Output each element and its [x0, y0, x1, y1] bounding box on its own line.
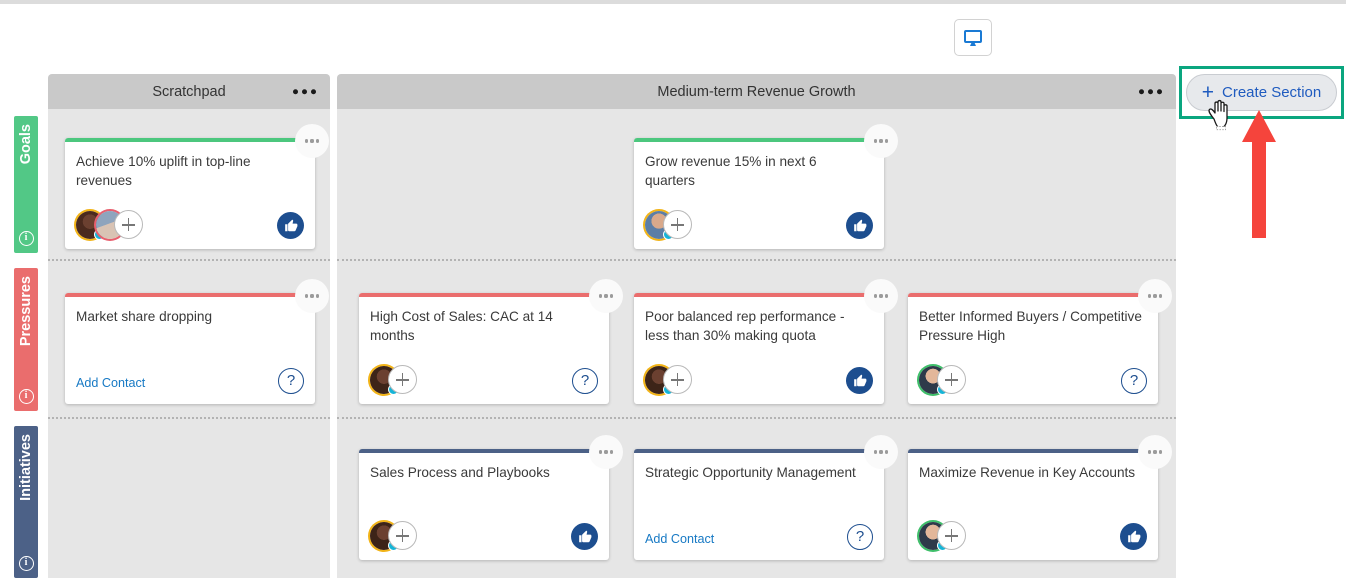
card-accent-bar: [359, 449, 609, 453]
lane-goals: Grow revenue 15% in next 6 quarters: [337, 109, 1176, 261]
avatar-stack[interactable]: [370, 365, 417, 394]
add-person-button[interactable]: [937, 521, 966, 550]
card[interactable]: Grow revenue 15% in next 6 quarters: [634, 138, 884, 249]
section-header[interactable]: Scratchpad: [48, 74, 330, 109]
section-menu-icon[interactable]: [1139, 89, 1163, 95]
card-accent-bar: [65, 293, 315, 297]
add-person-button[interactable]: [114, 210, 143, 239]
swimlane-label-pressures: Pressures: [18, 276, 34, 346]
pointer-hand-icon: [1206, 99, 1236, 133]
add-contact-link[interactable]: Add Contact: [76, 376, 145, 390]
info-icon[interactable]: i: [19, 389, 34, 404]
help-button[interactable]: ?: [278, 368, 304, 394]
card-title: Poor balanced rep performance - less tha…: [645, 307, 870, 345]
card-title: Maximize Revenue in Key Accounts: [919, 463, 1144, 482]
section-body: Grow revenue 15% in next 6 quarters: [337, 109, 1176, 578]
avatar-stack[interactable]: [919, 365, 966, 394]
card[interactable]: Sales Process and Playbooks: [359, 449, 609, 560]
card-title: Better Informed Buyers / Competitive Pre…: [919, 307, 1144, 345]
card-accent-bar: [65, 138, 315, 142]
add-contact-link[interactable]: Add Contact: [645, 532, 714, 546]
card-accent-bar: [908, 449, 1158, 453]
top-divider: [0, 0, 1346, 4]
swimlane-label-initiatives: Initiatives: [18, 434, 34, 501]
annotation-arrow-icon: [1239, 108, 1279, 240]
section-title: Scratchpad: [152, 84, 225, 100]
thumbs-up-button[interactable]: [846, 212, 873, 239]
thumbs-up-button[interactable]: [846, 367, 873, 394]
add-person-button[interactable]: [388, 365, 417, 394]
add-person-button[interactable]: [388, 521, 417, 550]
card-title: Strategic Opportunity Management: [645, 463, 870, 482]
avatar-stack[interactable]: [370, 521, 417, 550]
help-button[interactable]: ?: [572, 368, 598, 394]
monitor-icon: [964, 30, 982, 46]
avatar-stack[interactable]: [645, 365, 692, 394]
card-title: Sales Process and Playbooks: [370, 463, 595, 482]
add-person-button[interactable]: [663, 365, 692, 394]
info-icon[interactable]: i: [19, 231, 34, 246]
thumbs-up-button[interactable]: [277, 212, 304, 239]
lane-initiatives: Sales Process and Playbooks: [337, 419, 1176, 578]
section-scratchpad: Scratchpad Achieve 10% uplift in top-lin…: [48, 74, 330, 578]
card-title: Achieve 10% uplift in top-line revenues: [76, 152, 301, 190]
card[interactable]: Maximize Revenue in Key Accounts: [908, 449, 1158, 560]
add-person-button[interactable]: [937, 365, 966, 394]
board-canvas: Goals i Pressures i Initiatives i Scratc…: [0, 0, 1346, 578]
display-view-button[interactable]: [954, 19, 992, 56]
help-button[interactable]: ?: [1121, 368, 1147, 394]
swimlane-label-goals: Goals: [18, 124, 34, 164]
card-accent-bar: [634, 138, 884, 142]
card[interactable]: Better Informed Buyers / Competitive Pre…: [908, 293, 1158, 404]
help-button[interactable]: ?: [847, 524, 873, 550]
section-title: Medium-term Revenue Growth: [657, 84, 855, 100]
card[interactable]: Strategic Opportunity Management Add Con…: [634, 449, 884, 560]
swimlane-rail-goals[interactable]: Goals i: [14, 116, 38, 253]
card[interactable]: Poor balanced rep performance - less tha…: [634, 293, 884, 404]
thumbs-up-button[interactable]: [1120, 523, 1147, 550]
create-section-label: Create Section: [1222, 84, 1321, 101]
avatar-stack[interactable]: [76, 210, 143, 239]
card[interactable]: High Cost of Sales: CAC at 14 months ?: [359, 293, 609, 404]
thumbs-up-button[interactable]: [571, 523, 598, 550]
card-accent-bar: [634, 293, 884, 297]
card-accent-bar: [634, 449, 884, 453]
section-header[interactable]: Medium-term Revenue Growth: [337, 74, 1176, 109]
lane-initiatives: [48, 419, 330, 578]
avatar-stack[interactable]: [919, 521, 966, 550]
card-title: Market share dropping: [76, 307, 301, 326]
card-accent-bar: [908, 293, 1158, 297]
lane-pressures: High Cost of Sales: CAC at 14 months ?: [337, 261, 1176, 419]
lane-goals: Achieve 10% uplift in top-line revenues: [48, 109, 330, 261]
swimlane-rail-initiatives[interactable]: Initiatives i: [14, 426, 38, 578]
section-menu-icon[interactable]: [293, 89, 317, 95]
card-accent-bar: [359, 293, 609, 297]
section-medium-term-revenue-growth: Medium-term Revenue Growth Grow revenue …: [337, 74, 1176, 578]
avatar-stack[interactable]: [645, 210, 692, 239]
add-person-button[interactable]: [663, 210, 692, 239]
section-body: Achieve 10% uplift in top-line revenues: [48, 109, 330, 578]
card[interactable]: Market share dropping Add Contact ?: [65, 293, 315, 404]
card-title: High Cost of Sales: CAC at 14 months: [370, 307, 595, 345]
swimlane-rail-pressures[interactable]: Pressures i: [14, 268, 38, 411]
info-icon[interactable]: i: [19, 556, 34, 571]
card-title: Grow revenue 15% in next 6 quarters: [645, 152, 870, 190]
lane-pressures: Market share dropping Add Contact ?: [48, 261, 330, 419]
card[interactable]: Achieve 10% uplift in top-line revenues: [65, 138, 315, 249]
